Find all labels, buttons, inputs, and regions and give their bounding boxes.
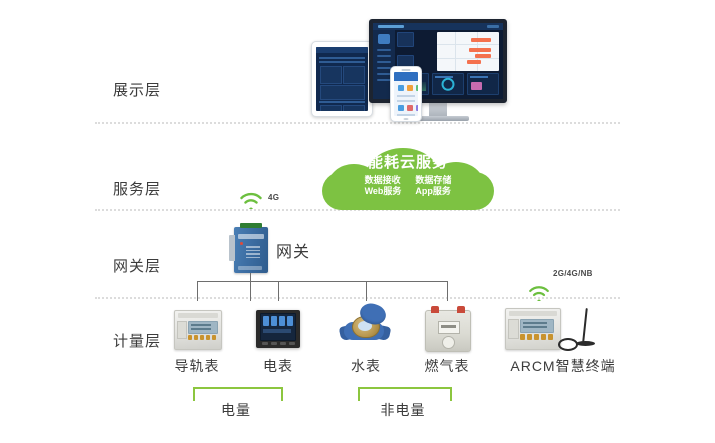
- sidebar-entry: [377, 49, 391, 51]
- terminal-lcd: [520, 319, 554, 333]
- layer-label-gateway: 网关层: [113, 255, 161, 276]
- smartphone-device: [390, 66, 422, 122]
- phone-earpiece: [402, 69, 411, 71]
- terminal-keys: [520, 334, 553, 340]
- dashboard-topbar: [373, 23, 503, 30]
- branch-line-din-rail: [197, 281, 198, 301]
- phone-app-tile: [416, 105, 418, 111]
- gas-meter-outlet: [457, 306, 465, 313]
- antenna-rod: [582, 308, 588, 342]
- phone-screen: [394, 72, 418, 116]
- device-caption-gas: 燃气表: [416, 356, 478, 376]
- phone-app-tile: [398, 105, 404, 111]
- monitor-stand-neck: [429, 103, 447, 116]
- gateway-trunk-line: [250, 273, 251, 301]
- map-road: [437, 58, 499, 59]
- meter-terminal: [177, 321, 187, 339]
- phone-app-header: [394, 72, 418, 81]
- terminal-top-strip: [509, 311, 557, 316]
- gateway-network-tag: 4G: [268, 193, 279, 202]
- tablet-panel: [343, 105, 365, 111]
- gauge-ring: [442, 78, 455, 91]
- bracket-non-electric-group: [358, 387, 452, 401]
- branch-line-electric: [278, 281, 279, 301]
- water-meter-device: [340, 306, 392, 346]
- cloud-service-columns: 数据接收 Web服务 数据存储 App服务: [318, 175, 498, 197]
- dashboard-map-panel: [437, 32, 499, 71]
- gateway-device: [234, 227, 268, 273]
- phone-row: [397, 100, 415, 102]
- tablet-panel: [320, 66, 342, 84]
- layer-label-metering: 计量层: [113, 330, 161, 351]
- meter-buttons: [262, 342, 295, 345]
- arcm-terminal-body: [505, 308, 561, 350]
- phone-app-tile: [398, 85, 404, 91]
- gas-meter-dial: [442, 336, 455, 349]
- sidebar-entry: [377, 79, 391, 81]
- sidebar-entry: [377, 67, 391, 69]
- gateway-vent-stripes: [246, 246, 260, 260]
- gateway-led: [240, 242, 243, 245]
- tablet-row: [319, 57, 365, 59]
- gas-meter-inlet: [431, 306, 439, 313]
- device-caption-din-rail: 导轨表: [166, 356, 228, 376]
- architecture-diagram: 展示层 服务层 网关层 计量层: [0, 0, 715, 443]
- gas-meter-body: [425, 310, 471, 352]
- panel-title: [470, 76, 488, 78]
- din-rail-meter-device: [174, 310, 222, 350]
- chart-panel-gauge: [432, 73, 464, 95]
- cloud-title: 能耗云服务: [318, 152, 498, 174]
- bracket-label-electric: 电量: [193, 400, 279, 420]
- layer-label-presentation: 展示层: [113, 79, 161, 100]
- wifi-signal-icon: [239, 191, 263, 209]
- cloud-content: 能耗云服务 数据接收 Web服务 数据存储 App服务: [318, 152, 498, 197]
- phone-row: [397, 95, 415, 97]
- cloud-service-item: 数据接收: [365, 175, 402, 186]
- branch-line-gas: [447, 281, 448, 301]
- electric-meter-body: [256, 310, 300, 348]
- gas-meter-device: [425, 310, 471, 352]
- divider-presentation-service: [95, 122, 620, 124]
- meter-keys: [188, 335, 216, 340]
- electric-meter-device: [256, 310, 300, 348]
- cloud-service-item: 数据存储: [415, 175, 451, 186]
- meter-lcd: [188, 321, 218, 334]
- terminal-network-tag: 2G/4G/NB: [553, 269, 593, 278]
- phone-app-tile: [416, 85, 418, 91]
- terminal-wifi-signal-icon: [528, 285, 550, 301]
- map-marker: [469, 48, 491, 52]
- tablet-panel: [320, 85, 365, 100]
- phone-row: [397, 114, 415, 116]
- dashboard-user-chip: [487, 25, 499, 28]
- device-caption-arcm-terminal: ARCM智慧终端: [507, 356, 619, 376]
- map-marker: [467, 60, 481, 64]
- layer-label-service: 服务层: [113, 178, 161, 199]
- gateway-name-label: 网关: [276, 238, 310, 262]
- stat-card: [397, 32, 414, 47]
- water-meter-body: [340, 306, 392, 346]
- gas-meter-register: [438, 321, 460, 334]
- map-road: [455, 32, 456, 71]
- meter-top-strip: [178, 313, 218, 318]
- gateway-bus-line: [197, 281, 448, 282]
- antenna-icon: [566, 308, 606, 350]
- din-rail-meter-body: [174, 310, 222, 350]
- terminal-connector: [508, 319, 519, 339]
- gateway-base-plate: [238, 266, 262, 270]
- meter-digits: [263, 316, 293, 326]
- tablet-panel: [343, 66, 365, 84]
- panel-thumb: [471, 82, 482, 90]
- sidebar-entry: [377, 55, 391, 57]
- gateway-connector: [229, 235, 235, 261]
- sidebar-entry: [377, 61, 391, 63]
- arcm-terminal-device: [505, 308, 561, 350]
- map-road: [437, 44, 499, 45]
- phone-app-tile: [407, 105, 413, 111]
- tablet-screen: [316, 47, 368, 111]
- antenna-base: [576, 341, 595, 346]
- phone-app-tile: [407, 85, 413, 91]
- tablet-row: [319, 101, 365, 103]
- map-marker: [471, 38, 491, 42]
- bracket-electric-group: [193, 387, 283, 401]
- tablet-header: [316, 47, 368, 53]
- cloud-service-item: App服务: [415, 186, 451, 197]
- gateway-label-plate: [238, 234, 264, 239]
- gateway-terminal-block: [240, 223, 262, 228]
- cloud-service-column-left: 数据接收 Web服务: [365, 175, 402, 197]
- device-caption-electric: 电表: [247, 356, 309, 376]
- cloud-service-item: Web服务: [365, 186, 402, 197]
- tablet-panel: [320, 105, 342, 111]
- device-caption-water: 水表: [335, 356, 397, 376]
- sidebar-entry: [377, 73, 391, 75]
- tablet-device: [311, 41, 373, 117]
- tablet-row: [319, 61, 365, 63]
- branch-line-water: [366, 281, 367, 301]
- dashboard-logo-icon: [378, 34, 390, 44]
- cloud-service-column-right: 数据存储 App服务: [415, 175, 451, 197]
- map-marker: [475, 54, 491, 58]
- phone-home-button: [404, 118, 409, 120]
- meter-subdisplay: [263, 329, 291, 333]
- bracket-label-non-electric: 非电量: [358, 400, 448, 420]
- dashboard-title-bar: [378, 25, 404, 28]
- chart-panel-table: [467, 73, 499, 95]
- antenna-cable: [558, 338, 578, 351]
